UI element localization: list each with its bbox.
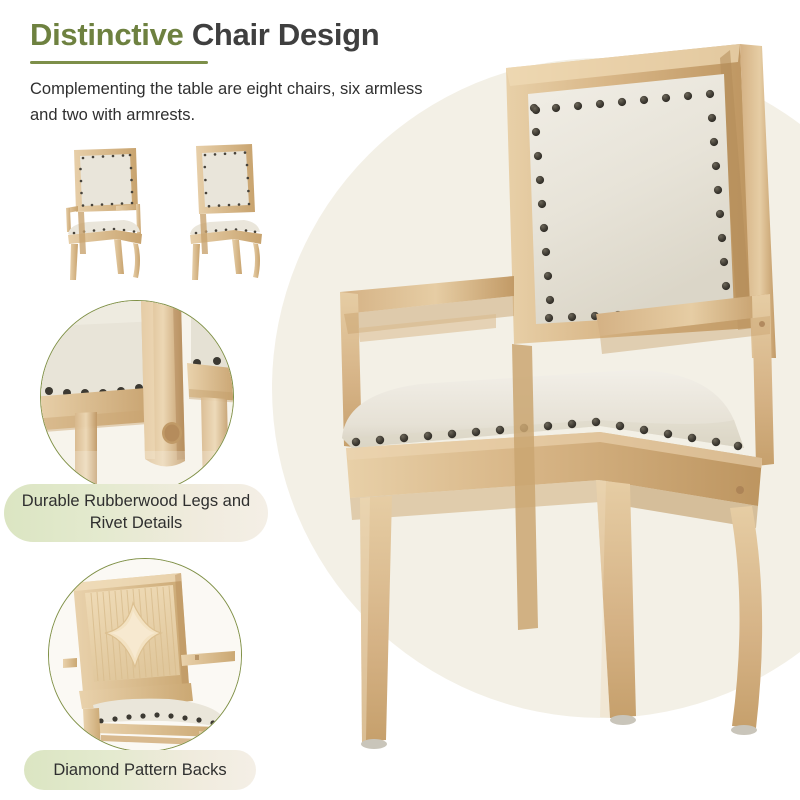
caption-text-diamond-back: Diamond Pattern Backs	[53, 761, 226, 780]
title-underline-rule	[30, 61, 208, 64]
armchair-hero-photo	[300, 28, 780, 780]
page-title: Distinctive Chair Design	[30, 18, 490, 52]
detail-leg-rivets	[40, 300, 234, 494]
page-title-accent: Distinctive	[30, 17, 183, 52]
page-subtitle: Complementing the table are eight chairs…	[30, 77, 450, 128]
detail-diamond-back	[48, 558, 242, 752]
page-title-rest: Chair Design	[192, 17, 380, 52]
caption-text-leg-rivets: Durable Rubberwood Legs and Rivet Detail…	[12, 491, 260, 535]
chair-thumbnail-row	[58, 138, 288, 283]
caption-pill-leg-rivets: Durable Rubberwood Legs and Rivet Detail…	[4, 484, 268, 542]
caption-pill-diamond-back: Diamond Pattern Backs	[24, 750, 256, 790]
header-block: Distinctive Chair Design Complementing t…	[30, 18, 490, 128]
armchair-thumbnail	[58, 138, 153, 283]
infographic-canvas: Distinctive Chair Design Complementing t…	[0, 0, 800, 800]
armless-chair-thumbnail	[176, 138, 271, 283]
